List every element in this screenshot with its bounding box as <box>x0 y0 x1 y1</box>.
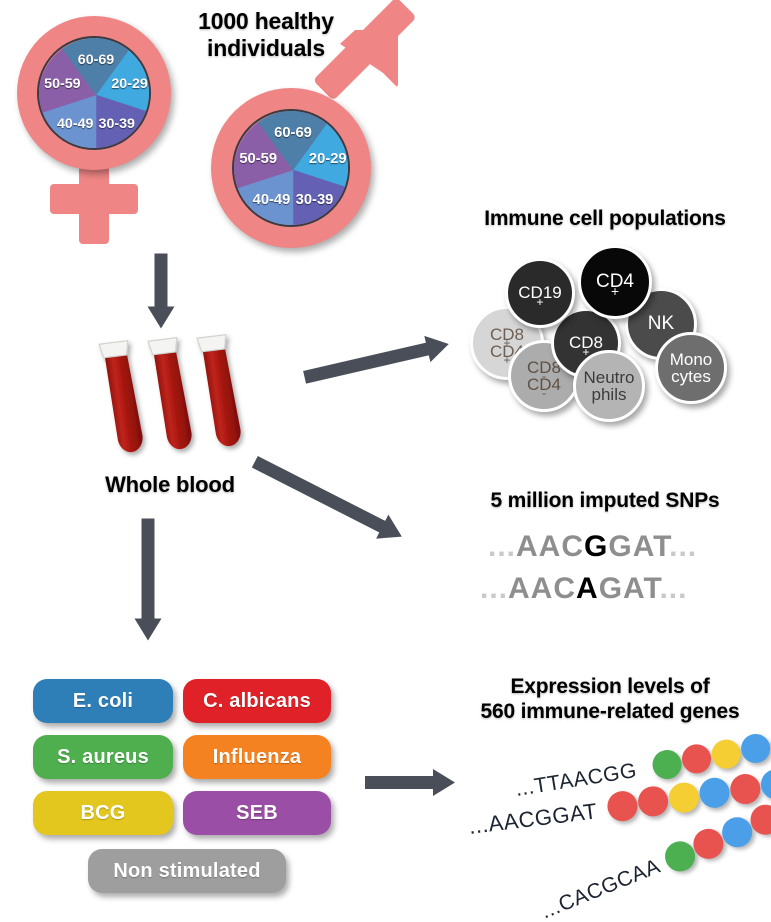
dna-bead <box>667 781 700 814</box>
figure-root: 1000 healthy individuals 20-2930-3940-49… <box>0 0 771 922</box>
dna-bead <box>606 789 639 822</box>
dna-bead <box>729 772 762 805</box>
dna-bead <box>636 785 669 818</box>
dna-strand-sequence: ...CACGCAA <box>538 855 664 922</box>
immune-cell-label: CD8+ <box>490 326 524 343</box>
dna-strand-sequence: ...AACGGAT <box>467 798 598 840</box>
dna-strands: ...TTAACGG...AACGGAT...CACGCAA <box>0 0 771 922</box>
dna-bead <box>680 743 713 776</box>
immune-cell-cd19: CD19+ <box>505 258 575 328</box>
dna-bead <box>710 737 743 770</box>
dna-bead <box>759 768 771 801</box>
immune-cell-monocytes: Monocytes <box>655 332 727 404</box>
immune-cell-label: CD8+ <box>569 334 603 351</box>
immune-cell-label: Mono <box>670 351 713 368</box>
immune-cell-cd4: CD4+ <box>578 245 652 319</box>
immune-cell-neutrophils: Neutrophils <box>573 350 645 422</box>
immune-cell-label: CD4+ <box>596 272 634 291</box>
immune-cell-label: NK <box>648 314 674 333</box>
immune-cell-label-line2: phils <box>583 386 634 403</box>
immune-cell-label-line2: cytes <box>670 368 713 385</box>
dna-bead <box>698 776 731 809</box>
immune-cell-label: Neutro <box>583 369 634 386</box>
immune-cell-label-line2: CD4- <box>527 376 561 393</box>
dna-bead <box>650 748 683 781</box>
dna-bead <box>739 732 771 765</box>
immune-cell-label: CD19+ <box>518 284 561 301</box>
